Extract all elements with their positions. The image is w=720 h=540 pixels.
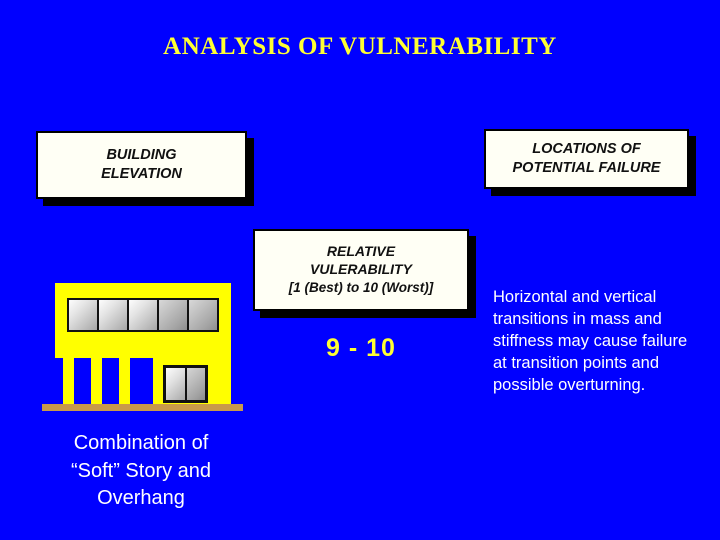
- window-pane: [159, 300, 187, 330]
- callout-locations-line1: LOCATIONS OF: [532, 140, 640, 159]
- diagram-caption-line2: “Soft” Story and: [22, 458, 260, 486]
- failure-description-text: Horizontal and vertical transitions in m…: [493, 287, 699, 397]
- window-pane: [187, 368, 206, 400]
- callout-relative-vulnerability: RELATIVE VULERABILITY [1 (Best) to 10 (W…: [253, 229, 469, 311]
- page-title: ANALYSIS OF VULNERABILITY: [0, 33, 720, 61]
- window-pane: [189, 300, 217, 330]
- callout-locations-of-potential-failure: LOCATIONS OF POTENTIAL FAILURE: [484, 129, 689, 189]
- callout-locations-line2: POTENTIAL FAILURE: [513, 159, 661, 178]
- window-pane: [69, 300, 97, 330]
- ground-line: [42, 404, 243, 411]
- building-column-1: [63, 358, 74, 405]
- diagram-caption-line3: Overhang: [22, 485, 260, 513]
- building-elevation-diagram: [36, 272, 250, 417]
- diagram-caption-line1: Combination of: [22, 430, 260, 458]
- diagram-caption: Combination of “Soft” Story and Overhang: [22, 430, 260, 513]
- building-column-3: [119, 358, 130, 405]
- slide-canvas: ANALYSIS OF VULNERABILITY BUILDING ELEVA…: [0, 0, 720, 540]
- window-pane: [129, 300, 157, 330]
- window-pane: [99, 300, 127, 330]
- callout-relative-line3: [1 (Best) to 10 (Worst)]: [289, 279, 434, 296]
- callout-building-elevation-line1: BUILDING: [106, 146, 176, 165]
- callout-building-elevation: BUILDING ELEVATION: [36, 131, 247, 199]
- ground-floor-window: [163, 365, 208, 403]
- callout-relative-line2: VULERABILITY: [310, 261, 412, 279]
- callout-building-elevation-line2: ELEVATION: [101, 165, 182, 184]
- window-pane: [166, 368, 185, 400]
- building-column-2: [91, 358, 102, 405]
- vulnerability-score: 9 - 10: [253, 334, 469, 363]
- callout-relative-line1: RELATIVE: [327, 243, 395, 261]
- upper-window-band: [67, 298, 219, 332]
